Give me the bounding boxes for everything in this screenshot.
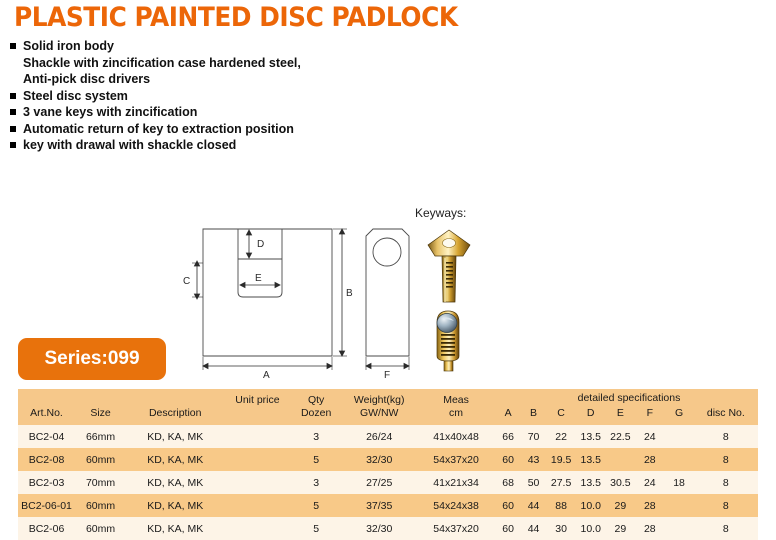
col-header-weight: Weight(kg)GW/NW [342,389,417,425]
label-B: B [346,288,353,299]
brass-key-barrel-head-icon [427,308,469,374]
series-badge: Series:099 [18,338,166,380]
cell-art-no: BC2-08 [18,448,75,471]
feature-text: Solid iron body [23,38,114,55]
cell-b: 70 [521,425,546,448]
cell-size: 60mm [75,517,126,540]
cell-g [664,425,693,448]
series-badge-label: Series:099 [44,348,139,370]
specifications-table: Art.No. Size Description Unit price QtyD… [18,389,758,540]
cell-size: 60mm [75,448,126,471]
cell-description: KD, KA, MK [126,494,224,517]
feature-list: Solid iron bodyShackle with zincificatio… [10,38,430,154]
table-row: BC2-0466mmKD, KA, MK326/2441x40x48667022… [18,425,758,448]
cell-c: 30 [546,517,576,540]
bullet-square-icon [10,142,16,148]
cell-d: 10.0 [576,517,606,540]
feature-item: 3 vane keys with zincification [10,104,430,121]
cell-d: 13.5 [576,448,606,471]
feature-item: Shackle with zincification case hardened… [10,55,430,72]
cell-disc-no: 8 [694,448,758,471]
cell-f: 28 [635,517,664,540]
label-C: C [183,276,190,287]
cell-b: 44 [521,494,546,517]
cell-f: 28 [635,494,664,517]
cell-weight: 37/35 [342,494,417,517]
col-header-unit-price: Unit price [224,389,290,425]
cell-meas: 41x21x34 [417,471,496,494]
cell-description: KD, KA, MK [126,471,224,494]
cell-meas: 41x40x48 [417,425,496,448]
feature-item: Automatic return of key to extraction po… [10,121,430,138]
cell-unit-price [224,494,290,517]
cell-a: 68 [495,471,520,494]
cell-meas: 54x24x38 [417,494,496,517]
table-body: BC2-0466mmKD, KA, MK326/2441x40x48667022… [18,425,758,540]
keyways-label: Keyways: [415,206,466,220]
cell-meas: 54x37x20 [417,448,496,471]
table-row: BC2-0370mmKD, KA, MK327/2541x21x34685027… [18,471,758,494]
label-F: F [384,370,390,381]
cell-g [664,448,693,471]
bullet-square-icon [10,126,16,132]
cell-disc-no: 8 [694,471,758,494]
cell-art-no: BC2-06 [18,517,75,540]
cell-e: 22.5 [606,425,636,448]
cell-a: 66 [495,425,520,448]
cell-qty-dozen: 5 [291,517,342,540]
feature-text: Shackle with zincification case hardened… [23,55,301,72]
cell-weight: 32/30 [342,517,417,540]
side-view-keyhole [373,238,401,266]
cell-size: 70mm [75,471,126,494]
feature-text: Anti-pick disc drivers [23,71,150,88]
cell-art-no: BC2-04 [18,425,75,448]
padlock-dimension-diagram: D C E A B [170,196,430,381]
cell-c: 88 [546,494,576,517]
feature-text: key with drawal with shackle closed [23,137,236,154]
cell-b: 50 [521,471,546,494]
feature-item: Anti-pick disc drivers [10,71,430,88]
cell-disc-no: 8 [694,494,758,517]
cell-a: 60 [495,448,520,471]
cell-meas: 54x37x20 [417,517,496,540]
cell-qty-dozen: 3 [291,471,342,494]
label-A: A [263,370,270,381]
cell-qty-dozen: 3 [291,425,342,448]
cell-b: 43 [521,448,546,471]
label-D: D [257,239,264,250]
cell-f: 24 [635,471,664,494]
table-row: BC2-06-0160mmKD, KA, MK537/3554x24x38604… [18,494,758,517]
cell-f: 24 [635,425,664,448]
cell-description: KD, KA, MK [126,448,224,471]
cell-unit-price [224,471,290,494]
cell-unit-price [224,448,290,471]
cell-qty-dozen: 5 [291,494,342,517]
cell-c: 27.5 [546,471,576,494]
cell-weight: 32/30 [342,448,417,471]
cell-unit-price [224,425,290,448]
cell-c: 22 [546,425,576,448]
bullet-square-icon [10,93,16,99]
cell-c: 19.5 [546,448,576,471]
cell-d: 10.0 [576,494,606,517]
cell-disc-no: 8 [694,425,758,448]
cell-qty-dozen: 5 [291,448,342,471]
cell-a: 60 [495,517,520,540]
diagram-svg: D C E A B [170,196,430,381]
brass-key-diamond-bow-icon [425,228,473,306]
cell-art-no: BC2-03 [18,471,75,494]
bullet-square-icon [10,109,16,115]
col-header-qty-dozen: QtyDozen [291,389,342,425]
table-row: BC2-0860mmKD, KA, MK532/3054x37x20604319… [18,448,758,471]
col-header-art-no: Art.No. [18,389,75,425]
cell-description: KD, KA, MK [126,425,224,448]
col-header-size: Size [75,389,126,425]
cell-f: 28 [635,448,664,471]
feature-item: key with drawal with shackle closed [10,137,430,154]
table-row: BC2-0660mmKD, KA, MK532/3054x37x20604430… [18,517,758,540]
cell-e: 29 [606,517,636,540]
cell-weight: 26/24 [342,425,417,448]
cell-art-no: BC2-06-01 [18,494,75,517]
page-title: PLASTIC PAINTED DISC PADLOCK [14,2,458,33]
feature-text: Steel disc system [23,88,128,105]
cell-d: 13.5 [576,471,606,494]
cell-weight: 27/25 [342,471,417,494]
bullet-spacer [10,76,16,82]
cell-g [664,494,693,517]
cell-g [664,517,693,540]
front-view-outline [203,229,332,356]
col-header-a: A [495,389,520,425]
label-E: E [255,273,262,284]
cell-e [606,448,636,471]
feature-item: Steel disc system [10,88,430,105]
detailed-specifications-group-header: detailed specifications [524,392,734,404]
cell-e: 29 [606,494,636,517]
feature-text: Automatic return of key to extraction po… [23,121,294,138]
cell-g: 18 [664,471,693,494]
cell-size: 66mm [75,425,126,448]
feature-item: Solid iron body [10,38,430,55]
cell-b: 44 [521,517,546,540]
cell-a: 60 [495,494,520,517]
feature-text: 3 vane keys with zincification [23,104,197,121]
bullet-spacer [10,60,16,66]
cell-d: 13.5 [576,425,606,448]
cell-size: 60mm [75,494,126,517]
bullet-square-icon [10,43,16,49]
cell-description: KD, KA, MK [126,517,224,540]
cell-disc-no: 8 [694,517,758,540]
col-header-meas: Meascm [417,389,496,425]
cell-unit-price [224,517,290,540]
cell-e: 30.5 [606,471,636,494]
col-header-description: Description [126,389,224,425]
